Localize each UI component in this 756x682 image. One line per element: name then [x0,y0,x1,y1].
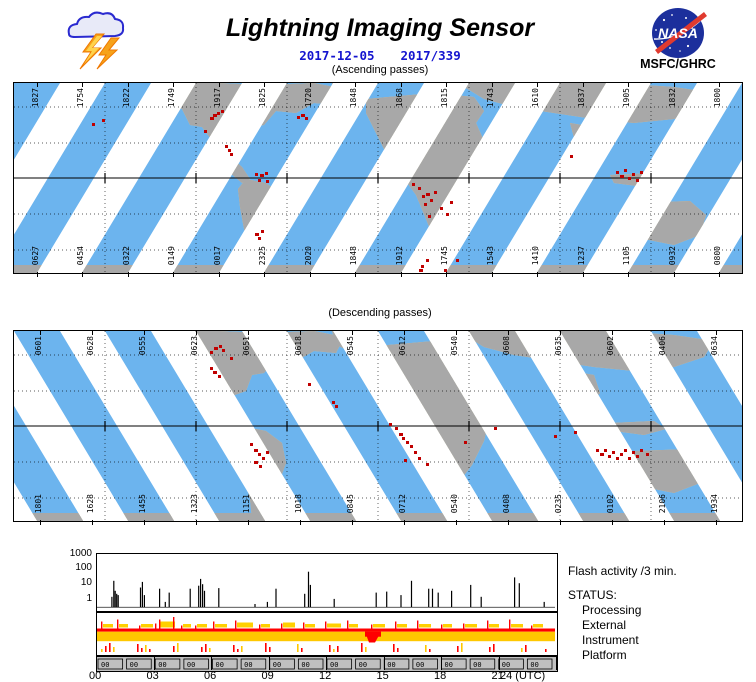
orbit-time-label: 1822 [123,88,131,107]
date-iso: 2017-12-05 [299,48,374,63]
orbit-time-label: 0406 [659,336,667,355]
legend-status-instrument: Instrument [568,633,756,648]
svg-text:00: 00 [530,661,538,669]
orbit-tick [456,520,457,525]
svg-text:00: 00 [301,661,309,669]
orbit-tick [248,520,249,525]
orbit-tick [583,82,584,87]
orbit-tick [300,520,301,525]
orbit-tick [664,330,665,335]
orbit-time-label: 1837 [578,88,586,107]
orbit-time-label: 1237 [578,246,586,265]
orbit-tick [560,520,561,525]
legend-status-external: External [568,618,756,633]
orbit-time-label: 0628 [87,336,95,355]
orbit-tick [537,272,538,277]
orbit-tick [664,520,665,525]
orbit-time-label: 1743 [487,88,495,107]
orbit-tick [40,520,41,525]
orbit-time-label: 1848 [350,88,358,107]
map-descending-passes[interactable] [13,330,743,522]
orbit-tick [82,82,83,87]
orbit-time-label: 0608 [503,336,511,355]
orbit-tick [401,82,402,87]
orbit-tick [719,272,720,277]
x-axis-tick [556,656,557,670]
orbit-time-label: 1455 [139,494,147,513]
orbit-time-label: 0540 [451,494,459,513]
orbit-time-label: 0017 [214,246,222,265]
legend-flash-activity: Flash activity /3 min. [568,564,756,579]
orbit-tick [37,82,38,87]
svg-text:00: 00 [101,661,109,669]
orbit-time-label: 0408 [503,494,511,513]
chart-legend: Flash activity /3 min. STATUS: Processin… [568,564,756,663]
orbit-time-label: 1105 [623,246,631,265]
orbit-time-label: 0555 [139,336,147,355]
orbit-time-label: 2020 [305,246,313,265]
orbit-time-label: 0635 [555,336,563,355]
x-axis-tick [499,656,500,670]
x-axis-tick-label: 18 [434,670,446,682]
map-ascending-canvas [14,83,742,273]
svg-text:00: 00 [416,661,424,669]
y-tick-100: 100 [54,562,92,573]
orbit-time-label: 1825 [259,88,267,107]
orbit-tick [128,272,129,277]
orbit-tick [716,330,717,335]
orbit-tick [310,82,311,87]
orbit-tick [128,82,129,87]
orbit-tick [92,520,93,525]
orbit-time-label: 0602 [607,336,615,355]
svg-text:00: 00 [187,661,195,669]
orbit-time-label: 1018 [295,494,303,513]
orbit-tick [219,272,220,277]
flash-activity-plot[interactable] [96,553,558,612]
x-axis-tick-label: 06 [204,670,216,682]
orbit-time-label: 1720 [305,88,313,107]
orbit-time-label: 0454 [77,246,85,265]
orbit-tick [355,82,356,87]
svg-text:00: 00 [359,661,367,669]
orbit-tick [716,520,717,525]
orbit-time-label: 0612 [399,336,407,355]
x-axis-end-label: 24 (UTC) [500,670,545,682]
orbit-tick [560,330,561,335]
ascending-passes-caption: (Ascending passes) [190,64,570,76]
orbit-time-label: 2325 [259,246,267,265]
orbit-tick [401,272,402,277]
orbit-time-label: 1151 [243,494,251,513]
orbit-tick [196,330,197,335]
orbit-time-label: 0545 [347,336,355,355]
page-header: Lightning Imaging Sensor 2017-12-052017/… [0,0,756,78]
date-doy: 2017/339 [401,48,461,63]
x-axis-tick [384,656,385,670]
orbit-time-label: 1610 [532,88,540,107]
orbit-time-label: 0618 [295,336,303,355]
date-line: 2017-12-052017/339 [190,48,570,63]
x-axis-tick-label: 03 [147,670,159,682]
x-axis-tick [211,656,212,670]
svg-text:00: 00 [445,661,453,669]
page-title: Lightning Imaging Sensor [190,14,570,43]
orbit-time-label: 1323 [191,494,199,513]
map-descending-canvas [14,331,742,521]
orbit-tick [612,520,613,525]
x-axis-tick-label: 00 [89,670,101,682]
orbit-tick [446,272,447,277]
orbit-tick [310,272,311,277]
orbit-tick [674,82,675,87]
svg-text:00: 00 [158,661,166,669]
orbit-time-label: 1745 [441,246,449,265]
orbit-tick [355,272,356,277]
y-tick-1000: 1000 [54,548,92,559]
orbit-tick [719,82,720,87]
orbit-time-label: 1905 [623,88,631,107]
orbit-time-label: 1628 [87,494,95,513]
orbit-time-label: 1832 [669,88,677,107]
y-tick-1: 1 [54,593,92,604]
orbit-tick [446,82,447,87]
orbit-time-label: 1848 [350,246,358,265]
orbit-tick [352,520,353,525]
svg-text:00: 00 [502,661,510,669]
orbit-time-label: 0634 [711,336,719,355]
legend-status-processing: Processing [568,603,756,618]
x-axis-tick [96,656,97,670]
orbit-time-label: 1912 [396,246,404,265]
svg-text:00: 00 [330,661,338,669]
orbit-tick [583,272,584,277]
status-bars[interactable] [96,612,558,656]
orbit-tick [508,520,509,525]
orbit-time-label: 1754 [77,88,85,107]
orbit-time-label: 0540 [451,336,459,355]
orbit-tick [628,82,629,87]
orbit-time-label: 0235 [555,494,563,513]
flash-activity-chart[interactable]: 1000 100 10 1 00000000000000000000000000… [0,548,756,680]
orbit-tick [404,330,405,335]
x-axis-tick-label: 09 [262,670,274,682]
orbit-time-label: 0623 [191,336,199,355]
orbit-tick [674,272,675,277]
orbit-time-label: 0149 [168,246,176,265]
svg-text:00: 00 [387,661,395,669]
orbit-tick [300,330,301,335]
svg-text:00: 00 [130,661,138,669]
legend-status-platform: Platform [568,648,756,663]
orbit-tick [612,330,613,335]
descending-passes-caption: (Descending passes) [190,307,570,319]
svg-text:00: 00 [473,661,481,669]
orbit-time-label: 1917 [214,88,222,107]
orbit-tick [173,272,174,277]
orbit-time-label: 1410 [532,246,540,265]
orbit-time-label: 0102 [607,494,615,513]
agency-label: MSFC/GHRC [628,57,728,71]
svg-text:00: 00 [273,661,281,669]
svg-text:NASA: NASA [658,25,698,41]
orbit-time-label: 0601 [35,336,43,355]
orbit-tick [456,330,457,335]
orbit-time-label: 1827 [32,88,40,107]
x-axis-tick [269,656,270,670]
orbit-tick [264,272,265,277]
status-bars-canvas [97,613,555,653]
orbit-tick [82,272,83,277]
thunderstorm-lightning-icon [55,8,135,70]
x-axis-tick [326,656,327,670]
orbit-time-label: 1868 [396,88,404,107]
orbit-tick [219,82,220,87]
x-axis-tick [441,656,442,670]
flash-activity-spikes [97,554,555,609]
orbit-tick [628,272,629,277]
orbit-time-label: 1800 [714,88,722,107]
orbit-time-label: 1749 [168,88,176,107]
orbit-time-label: 2106 [659,494,667,513]
orbit-tick [404,520,405,525]
orbit-tick [196,520,197,525]
orbit-tick [92,330,93,335]
orbit-tick [173,82,174,87]
orbit-tick [508,330,509,335]
orbit-time-label: 0651 [243,336,251,355]
orbit-time-label: 0627 [32,246,40,265]
orbit-time-label: 1543 [487,246,495,265]
orbit-tick [37,272,38,277]
svg-text:00: 00 [216,661,224,669]
orbit-time-label: 1801 [35,494,43,513]
svg-text:00: 00 [244,661,252,669]
orbit-tick [40,330,41,335]
x-axis-tick-label: 12 [319,670,331,682]
orbit-tick [264,82,265,87]
orbit-time-label: 0322 [123,246,131,265]
orbit-tick [492,82,493,87]
x-axis-tick [154,656,155,670]
orbit-time-label: 0845 [347,494,355,513]
y-tick-10: 10 [54,577,92,588]
orbit-tick [144,330,145,335]
orbit-tick [248,330,249,335]
orbit-tick [352,330,353,335]
orbit-time-label: 1815 [441,88,449,107]
orbit-tick [492,272,493,277]
orbit-time-label: 0712 [399,494,407,513]
orbit-time-label: 1934 [711,494,719,513]
orbit-time-label: 0932 [669,246,677,265]
orbit-tick [144,520,145,525]
orbit-tick [537,82,538,87]
legend-status-title: STATUS: [568,588,756,603]
x-axis-tick-label: 15 [377,670,389,682]
orbit-time-label: 0800 [714,246,722,265]
